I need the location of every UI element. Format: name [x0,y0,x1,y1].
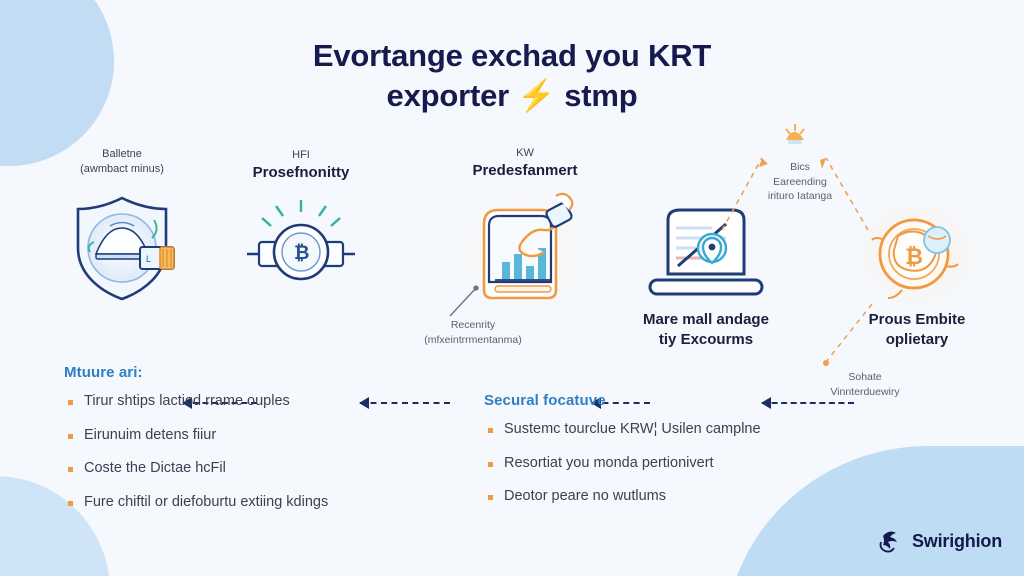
list-right-heading: Secural focatuve [484,392,864,409]
handshake-coin-icon: ₿ [245,198,357,296]
infographic-canvas: Evortange exchad you KRT exporter ⚡ stmp [0,0,1024,576]
title-line-1: Evortange exchad you KRT [0,36,1024,76]
list-left-item-4: Fure chiftil or diefoburtu extiing kding… [84,493,328,513]
svg-text:L: L [146,254,151,264]
list-item: Resortiat you monda pertionivert [484,454,864,474]
swirl-bird-logo-icon [877,528,903,554]
list-item: Fure chiftil or diefoburtu extiing kding… [64,493,454,513]
step-2-caption: Prosefnonitty [201,163,401,183]
brand-name: Swirighion [912,531,1002,552]
title-line-2: exporter ⚡ stmp [0,76,1024,116]
annotation-top-right: Bics Eareending irituro Iatanga [735,160,865,204]
list-item: Coste the Dictae hcFil [64,459,454,479]
bullet-icon [488,495,493,500]
annotation-security: Recenrity (mfxeintrrmentanma) [398,318,548,347]
step-1-caption: Balletne (awmbact minus) [22,147,222,177]
step-3-caption: Predesfanmert [425,161,625,181]
list-left-item-2: Eirunuim detens fiiur [84,426,216,446]
list-item: Tirur shtips lactiod rrame ouples [64,392,454,412]
bullet-icon [488,428,493,433]
bullet-icon [488,462,493,467]
svg-text:₿: ₿ [294,243,309,264]
bullet-icon [68,400,73,405]
list-item: Sustemc tourclue KRW¦ Usilen camplne [484,420,864,440]
list-item: Eirunuim detens fiiur [64,426,454,446]
annotation-leader-bottom-right [806,300,896,380]
step-handshake-coin[interactable]: ₿ HFI Prosefnonitty [245,198,357,296]
list-item: Deotor peare no wutlums [484,487,864,507]
list-left-item-1: Tirur shtips lactiod rrame ouples [84,392,290,412]
page-title: Evortange exchad you KRT exporter ⚡ stmp [0,36,1024,115]
list-left: Mtuure ari: Tirur shtips lactiod rrame o… [64,364,454,526]
step-shield-bank[interactable]: L Balletne (awmbact minus) [62,192,182,302]
bullet-icon [68,434,73,439]
list-right: Secural focatuve Sustemc tourclue KRW¦ U… [484,392,864,521]
brand-watermark: Swirighion [877,528,1002,554]
shield-bank-icon: L [62,192,182,302]
list-right-item-3: Deotor peare no wutlums [504,487,666,507]
bullet-icon [68,501,73,506]
step-4-caption: Mare mall andage tiy Excourms [591,310,821,349]
list-right-item-1: Sustemc tourclue KRW¦ Usilen camplne [504,420,761,440]
step-3-caption-small: KW [425,146,625,161]
list-right-item-2: Resortiat you monda pertionivert [504,454,714,474]
list-left-heading: Mtuure ari: [64,364,454,381]
list-left-item-3: Coste the Dictae hcFil [84,459,226,479]
bullet-icon [68,467,73,472]
step-2-caption-small: HFI [201,148,401,163]
